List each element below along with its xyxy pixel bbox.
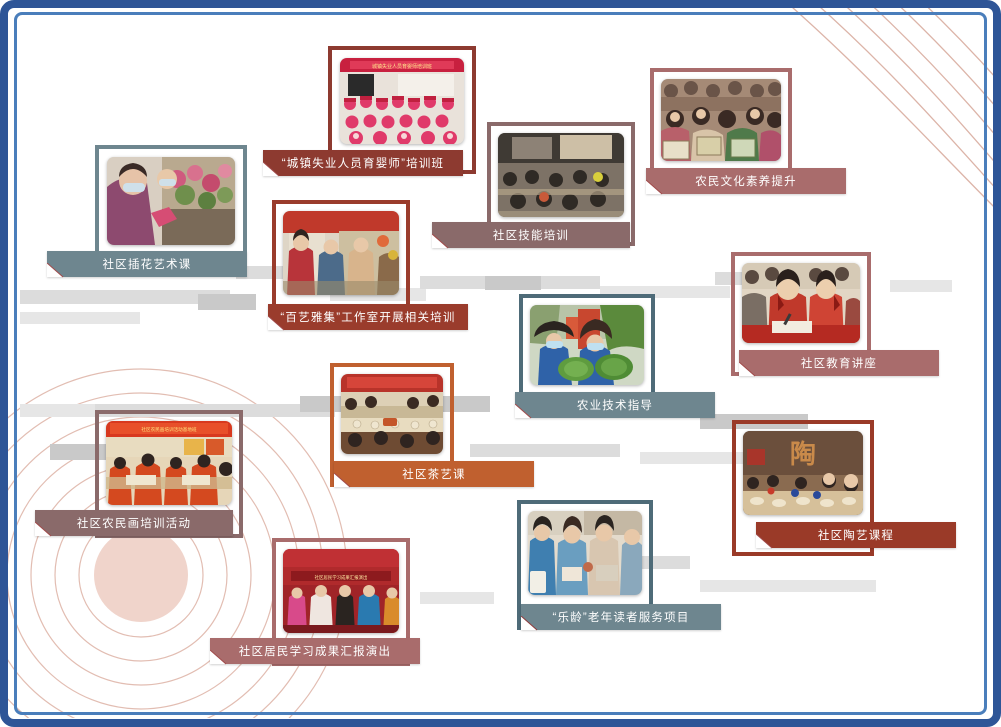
bg-bar — [198, 294, 256, 310]
svg-text:陶: 陶 — [790, 440, 816, 469]
collage-card[interactable]: “百艺雅集”工作室开展相关培训 — [272, 200, 472, 332]
collage-card[interactable]: 社区茶艺课 — [330, 363, 530, 489]
label-fold — [47, 263, 69, 279]
photo-senior-reading — [528, 511, 642, 595]
label-fold — [521, 616, 543, 632]
collage-card[interactable]: 城镇失业人员育婴师培训班 — [328, 46, 478, 176]
card-photo — [107, 157, 235, 245]
label-fold — [334, 473, 356, 489]
card-label: “乐龄”老年读者服务项目 — [521, 604, 721, 630]
card-label: 社区插花艺术课 — [47, 251, 247, 277]
collage-card[interactable]: 农业技术指导 — [519, 294, 719, 420]
card-photo — [528, 511, 642, 595]
card-photo: 社区居民学习成果汇报演出 — [283, 549, 399, 633]
card-photo — [661, 79, 781, 161]
photo-baiyi-workshop — [283, 211, 399, 295]
photo-farmer-culture — [661, 79, 781, 161]
svg-text:城镇失业人员育婴师培训班: 城镇失业人员育婴师培训班 — [372, 63, 432, 70]
card-label: “百艺雅集”工作室开展相关培训 — [268, 304, 468, 330]
photo-nanny-training: 城镇失业人员育婴师培训班 — [340, 58, 464, 144]
collage-card[interactable]: 农民文化素养提升 — [650, 68, 800, 196]
collage-card[interactable]: 社区居民学习成果汇报演出 社区居民学习成果汇报演出 — [272, 538, 482, 668]
card-photo — [341, 374, 443, 454]
collage-card[interactable]: 社区教育讲座 — [731, 252, 937, 378]
photo-skill-training — [498, 133, 624, 217]
photo-community-lecture — [742, 263, 860, 343]
photo-farmer-painting: 社区农民画培训活动基地班 — [106, 421, 232, 505]
label-fold — [210, 650, 232, 666]
label-fold — [268, 316, 290, 332]
photo-pottery: 陶 — [743, 431, 863, 515]
collage-canvas: 社区插花艺术课 城镇失业人员育婴师培训班 — [0, 0, 1001, 727]
label-fold — [756, 534, 778, 550]
svg-text:社区居民学习成果汇报演出: 社区居民学习成果汇报演出 — [315, 574, 368, 581]
card-label: 社区农民画培训活动 — [35, 510, 233, 536]
photo-tea-art — [341, 374, 443, 454]
bg-bar — [700, 580, 876, 592]
card-label: 社区茶艺课 — [334, 461, 534, 487]
collage-card[interactable]: 陶 社区陶艺课程 — [732, 420, 938, 558]
card-photo — [530, 305, 644, 385]
photo-resident-performance: 社区居民学习成果汇报演出 — [283, 549, 399, 633]
label-fold — [646, 180, 668, 196]
card-photo: 社区农民画培训活动基地班 — [106, 421, 232, 505]
photo-flower-art — [107, 157, 235, 245]
label-fold — [35, 522, 57, 538]
card-label: 农业技术指导 — [515, 392, 715, 418]
collage-card[interactable]: “乐龄”老年读者服务项目 — [517, 500, 717, 632]
card-photo: 陶 — [743, 431, 863, 515]
card-photo: 城镇失业人员育婴师培训班 — [340, 58, 464, 144]
collage-card[interactable]: 社区技能培训 — [487, 122, 637, 248]
label-fold — [739, 362, 761, 378]
photo-agri-tech — [530, 305, 644, 385]
label-fold — [263, 162, 285, 178]
card-label: 社区教育讲座 — [739, 350, 939, 376]
card-photo — [283, 211, 399, 295]
card-label: “城镇失业人员育婴师”培训班 — [263, 150, 463, 176]
card-label: 农民文化素养提升 — [646, 168, 846, 194]
svg-text:社区农民画培训活动基地班: 社区农民画培训活动基地班 — [141, 426, 197, 433]
card-photo — [498, 133, 624, 217]
card-label: 社区陶艺课程 — [756, 522, 956, 548]
card-label: 社区居民学习成果汇报演出 — [210, 638, 420, 664]
card-photo — [742, 263, 860, 343]
bg-bar — [485, 276, 541, 290]
bg-bar — [20, 312, 140, 324]
collage-card[interactable]: 社区农民画培训活动基地班 社区农民画培训活动 — [95, 410, 305, 540]
